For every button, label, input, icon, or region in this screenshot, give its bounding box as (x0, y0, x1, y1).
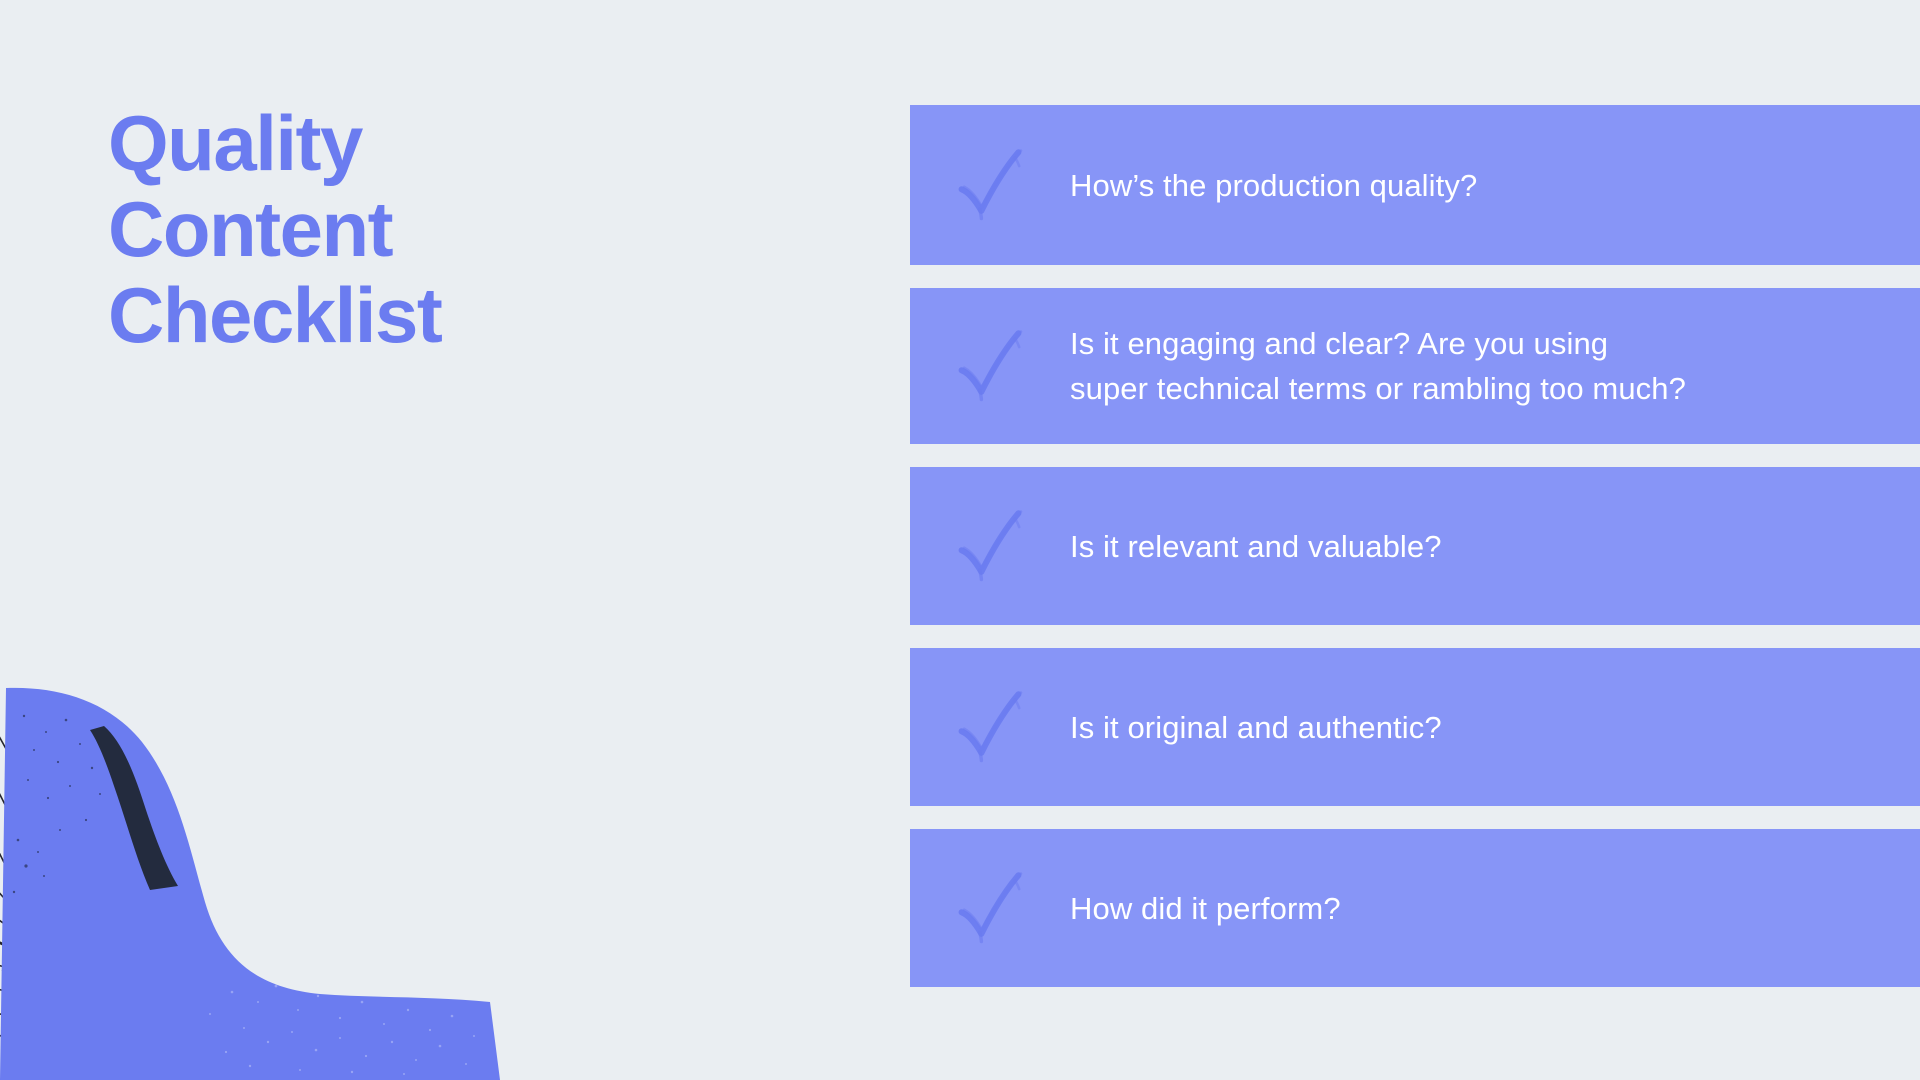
checklist: How’s the production quality? Is it enga… (910, 105, 1920, 1010)
abstract-blob-shape (0, 680, 520, 1080)
checklist-item-label: Is it original and authentic? (1070, 705, 1442, 750)
checklist-item[interactable]: Is it engaging and clear? Are you using … (910, 288, 1920, 444)
page-title: Quality Content Checklist (108, 100, 808, 358)
check-mark-icon (950, 320, 1042, 412)
checklist-item[interactable]: Is it original and authentic? (910, 648, 1920, 806)
checklist-item-label: How did it perform? (1070, 886, 1341, 931)
checklist-item-label: How’s the production quality? (1070, 163, 1477, 208)
checklist-item-label: Is it relevant and valuable? (1070, 524, 1442, 569)
page-title-line-3: Checklist (108, 272, 808, 358)
checklist-item[interactable]: How’s the production quality? (910, 105, 1920, 265)
page-title-line-2: Content (108, 186, 808, 272)
checklist-item-label: Is it engaging and clear? Are you using … (1070, 321, 1690, 411)
page-title-line-1: Quality (108, 100, 808, 186)
check-mark-icon (950, 500, 1042, 592)
check-mark-icon (950, 681, 1042, 773)
checklist-item[interactable]: Is it relevant and valuable? (910, 467, 1920, 625)
slide-canvas: Quality Content Checklist How’s the prod… (0, 0, 1920, 1080)
checklist-item[interactable]: How did it perform? (910, 829, 1920, 987)
check-mark-icon (950, 862, 1042, 954)
check-mark-icon (950, 139, 1042, 231)
